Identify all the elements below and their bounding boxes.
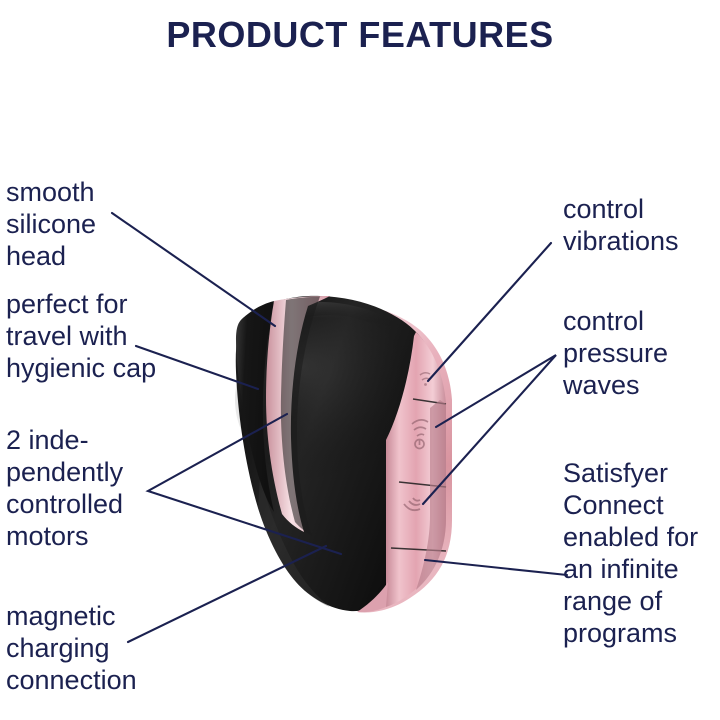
callout-hygienic-cap: perfect for travel with hygienic cap <box>6 288 156 384</box>
callout-control-pressure-waves: control pressure waves <box>563 305 668 401</box>
callout-smooth-silicone-head: smooth silicone head <box>6 176 96 272</box>
callout-magnetic-charging: magnetic charging connection <box>6 600 137 696</box>
product-features-infographic: PRODUCT FEATURES <box>0 0 720 720</box>
callout-control-vibrations: control vibrations <box>563 193 679 257</box>
callout-satisfyer-connect: Satisfyer Connect enabled for an infinit… <box>563 457 698 649</box>
callout-independent-motors: 2 inde- pendently controlled motors <box>6 424 123 552</box>
